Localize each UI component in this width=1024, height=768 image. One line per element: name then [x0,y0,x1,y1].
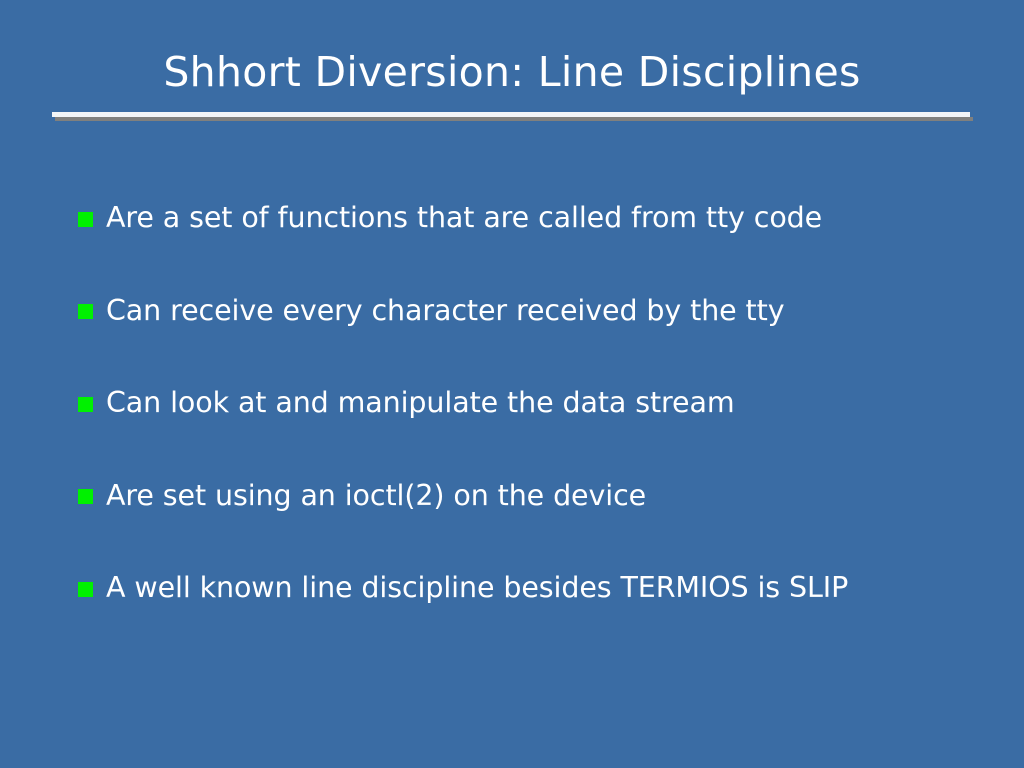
title-underline-rule [52,112,970,117]
list-item: Are a set of functions that are called f… [78,172,998,265]
square-bullet-icon [78,489,93,504]
list-item: Are set using an ioctl(2) on the device [78,450,998,543]
bullet-item-label: Can look at and manipulate the data stre… [106,386,998,420]
square-bullet-icon [78,212,93,227]
page-title: Shhort Diversion: Line Disciplines [0,46,1024,98]
list-item: Can look at and manipulate the data stre… [78,357,998,450]
slide-title-block: Shhort Diversion: Line Disciplines [0,46,1024,98]
bullet-item-label: Are a set of functions that are called f… [106,201,998,235]
presentation-slide: Shhort Diversion: Line Disciplines Are a… [0,0,1024,768]
list-item: Can receive every character received by … [78,265,998,358]
bullet-item-label: A well known line discipline besides TER… [106,571,998,605]
bullet-list: Are a set of functions that are called f… [78,172,998,635]
bullet-item-label: Can receive every character received by … [106,294,998,328]
square-bullet-icon [78,582,93,597]
square-bullet-icon [78,397,93,412]
list-item: A well known line discipline besides TER… [78,542,998,635]
square-bullet-icon [78,304,93,319]
bullet-item-label: Are set using an ioctl(2) on the device [106,479,998,513]
